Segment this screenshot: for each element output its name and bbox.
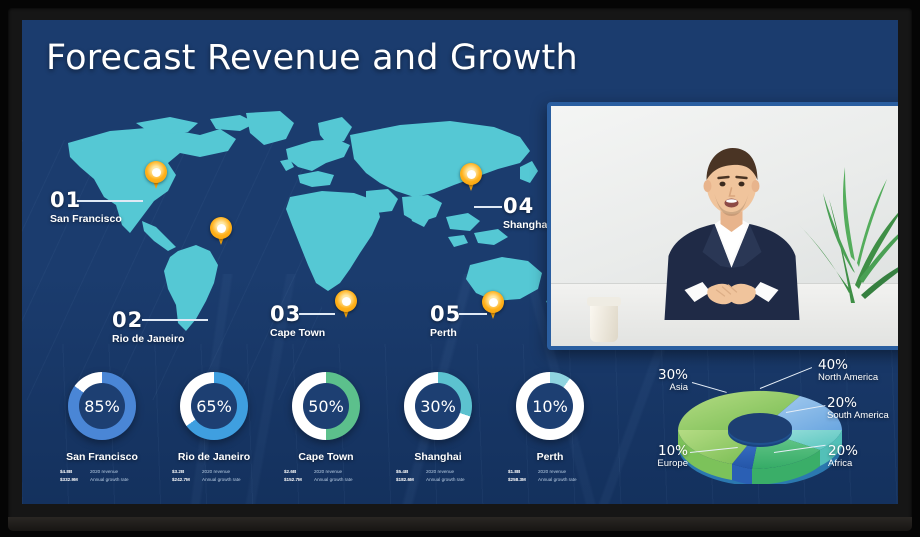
donut-label-africa: 20% Africa [828,444,858,470]
gauge-stat-growth: $258.3M Annual growth rate [508,476,600,484]
presenter-video-panel[interactable] [547,102,898,350]
gauge-growth-value: $258.3M [508,476,533,484]
coffee-cup [587,294,621,342]
gauge-center: 85% [79,383,125,429]
donut-label-north-america: 40% North America [818,358,878,384]
map-label-shanghai: 04 Shanghai [503,194,550,231]
gauge-center: 10% [527,383,573,429]
map-marker-san-francisco[interactable] [145,161,167,191]
gauge-revenue-value: $3.2B [172,468,197,476]
gauge-ring: 50% [292,372,360,440]
gauge-revenue-label: 2020 revenue [314,468,342,476]
gauge-growth-label: Annual growth rate [202,476,241,484]
leader-line-shanghai [474,206,502,208]
donut-region: Europe [626,459,688,470]
map-label-perth: 05 Perth [430,302,461,339]
map-label-san-francisco: 01 San Francisco [50,188,122,225]
gauge-stats: $5.4B 2020 revenue $182.6M Annual growth… [388,468,488,484]
region-share-donut-chart: 40% North America 20% South America 20% … [622,356,898,496]
gauge-revenue-label: 2020 revenue [538,468,566,476]
gauge-stat-growth: $332.9M Annual growth rate [60,476,152,484]
map-marker-rio[interactable] [210,217,232,247]
map-marker-perth[interactable] [482,291,504,321]
gauge-shanghai[interactable]: 30% Shanghai $5.4B 2020 revenue $182.6M … [388,372,488,484]
gauge-growth-label: Annual growth rate [426,476,465,484]
leader-line-rio [142,319,208,321]
cup-lid [587,297,621,306]
gauge-stat-growth: $182.6M Annual growth rate [396,476,488,484]
gauge-stats: $3.2B 2020 revenue $242.7M Annual growth… [164,468,264,484]
gauge-growth-value: $242.7M [172,476,197,484]
gauge-ring: 65% [180,372,248,440]
gauge-revenue-value: $2.6B [284,468,309,476]
gauge-cape-town[interactable]: 50% Cape Town $2.6B 2020 revenue $152.7M… [276,372,376,484]
gauge-stats: $1.8B 2020 revenue $258.3M Annual growth… [500,468,600,484]
map-label-city: Rio de Janeiro [112,333,184,345]
gauge-stat-growth: $152.7M Annual growth rate [284,476,376,484]
gauge-stat-growth: $242.7M Annual growth rate [172,476,264,484]
gauge-rio-de-janeiro[interactable]: 65% Rio de Janeiro $3.2B 2020 revenue $2… [164,372,264,484]
map-label-city: San Francisco [50,213,122,225]
gauge-stat-revenue: $5.4B 2020 revenue [396,468,488,476]
donut-region: Asia [622,383,688,394]
donut-percent: 20% [828,444,858,459]
gauge-revenue-label: 2020 revenue [90,468,118,476]
donut-label-europe: 10% Europe [626,444,688,470]
gauge-city-label: Cape Town [276,451,376,463]
donut-label-south-america: 20% South America [827,396,889,422]
city-gauges: 85% San Francisco $4.8B 2020 revenue $33… [52,372,572,502]
gauge-revenue-value: $1.8B [508,468,533,476]
gauge-growth-value: $182.6M [396,476,421,484]
slide-title: Forecast Revenue and Growth [46,38,578,78]
gauge-ring: 10% [516,372,584,440]
gauge-ring: 85% [68,372,136,440]
map-label-city: Perth [430,327,461,339]
video-frame [551,106,898,346]
gauge-stat-revenue: $4.8B 2020 revenue [60,468,152,476]
map-marker-cape-town[interactable] [335,290,357,320]
gauge-stats: $4.8B 2020 revenue $332.9M Annual growth… [52,468,152,484]
gauge-revenue-value: $5.4B [396,468,421,476]
map-marker-shanghai[interactable] [460,163,482,193]
donut-percent: 20% [827,396,889,411]
donut-label-asia: 30% Asia [622,368,688,394]
marker-dot-icon [489,298,498,307]
map-label-cape-town: 03 Cape Town [270,302,325,339]
donut-region: North America [818,373,878,384]
monitor: Forecast Revenue and Growth [0,0,920,537]
leader-line-cape-town [299,313,335,315]
gauge-center: 50% [303,383,349,429]
gauge-stat-revenue: $1.8B 2020 revenue [508,468,600,476]
gauge-revenue-label: 2020 revenue [426,468,454,476]
gauge-growth-value: $332.9M [60,476,85,484]
map-label-city: Cape Town [270,327,325,339]
map-label-number: 04 [503,194,550,218]
gauge-percent: 85% [84,397,120,416]
gauge-stat-revenue: $3.2B 2020 revenue [172,468,264,476]
monitor-stand-edge [8,517,912,531]
marker-dot-icon [467,170,476,179]
presentation-slide: Forecast Revenue and Growth [22,20,898,504]
donut-region: Africa [828,459,858,470]
map-label-rio: 02 Rio de Janeiro [112,308,184,345]
gauge-city-label: Perth [500,451,600,463]
gauge-growth-value: $152.7M [284,476,309,484]
gauge-center: 65% [191,383,237,429]
donut-region: South America [827,411,889,422]
leader-line-san-francisco [77,200,143,202]
gauge-stats: $2.6B 2020 revenue $152.7M Annual growth… [276,468,376,484]
gauge-city-label: Rio de Janeiro [164,451,264,463]
gauge-perth[interactable]: 10% Perth $1.8B 2020 revenue $258.3M Ann… [500,372,600,484]
gauge-city-label: Shanghai [388,451,488,463]
gauge-percent: 10% [532,397,568,416]
gauge-city-label: San Francisco [52,451,152,463]
map-label-city: Shanghai [503,219,550,231]
gauge-revenue-value: $4.8B [60,468,85,476]
marker-dot-icon [152,168,161,177]
gauge-stat-revenue: $2.6B 2020 revenue [284,468,376,476]
gauge-percent: 65% [196,397,232,416]
gauge-growth-label: Annual growth rate [90,476,129,484]
gauge-growth-label: Annual growth rate [538,476,577,484]
presenter [625,140,840,320]
marker-dot-icon [217,224,226,233]
cup-body [590,302,618,342]
gauge-ring: 30% [404,372,472,440]
donut-percent: 40% [818,358,878,373]
gauge-san-francisco[interactable]: 85% San Francisco $4.8B 2020 revenue $33… [52,372,152,484]
map-label-number: 05 [430,302,461,326]
gauge-percent: 50% [308,397,344,416]
gauge-revenue-label: 2020 revenue [202,468,230,476]
marker-dot-icon [342,297,351,306]
leader-line-perth [459,313,487,315]
donut-percent: 10% [626,444,688,459]
gauge-percent: 30% [420,397,456,416]
gauge-center: 30% [415,383,461,429]
gauge-growth-label: Annual growth rate [314,476,353,484]
donut-percent: 30% [622,368,688,383]
